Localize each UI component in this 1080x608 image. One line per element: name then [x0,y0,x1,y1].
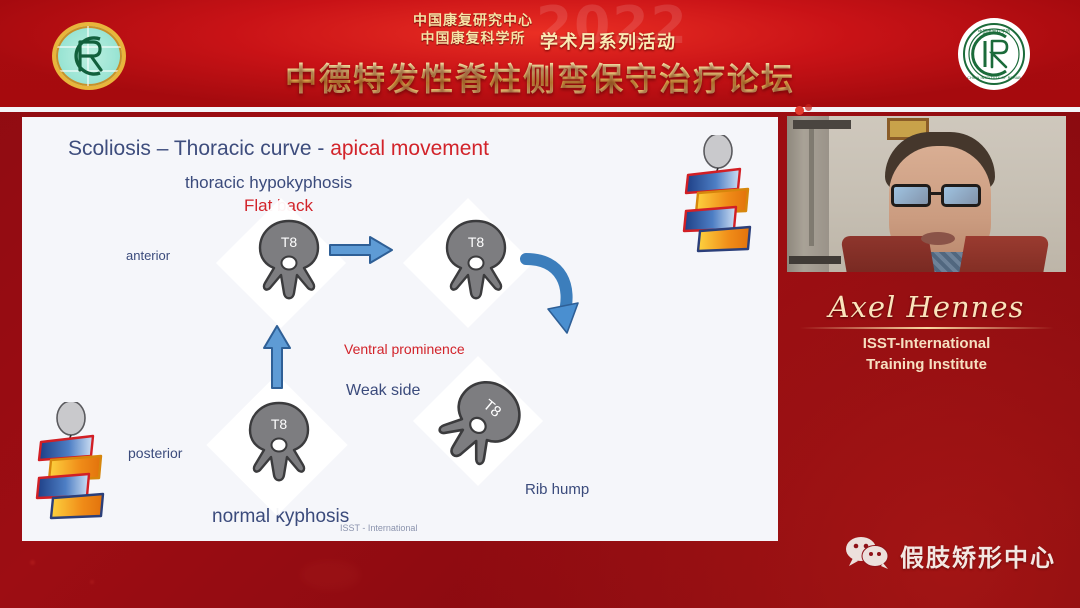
speaker-mouth [921,232,955,245]
video-background-panel [793,120,851,129]
video-background-panel [789,256,841,264]
slide-footer: ISST - International [340,523,417,533]
bokeh-dot [300,560,360,590]
svg-text:CHINA INSTITUTE OF REHAB: CHINA INSTITUTE OF REHAB [967,75,1021,80]
vertebra-label: T8 [281,234,298,250]
speaker-glasses-right [941,184,981,207]
recording-indicator-dot [795,106,804,115]
organizer-names: 中国康复研究中心 中国康复科学所 [398,12,548,47]
arrow-right-icon [328,235,394,270]
svg-text:中国康复科学所: 中国康复科学所 [978,28,1011,35]
speaker-organization-line-2: Training Institute [787,354,1066,375]
vertebra-top-right: T8 [437,217,515,312]
wechat-account-name: 假肢矫形中心 [900,538,1056,573]
speaker-name-divider [800,327,1054,329]
organizer-line-2: 中国康复科学所 [398,30,548,48]
video-background-door [787,116,829,272]
speaker-organization: ISST-International Training Institute [787,333,1066,375]
speaker-glasses-bridge [930,192,942,195]
event-main-title: 中德特发性脊柱侧弯保守治疗论坛 [0,54,1080,100]
event-subtitle: 学术月系列活动 [540,28,677,54]
video-background-door-edge [809,124,814,246]
wechat-watermark: 假肢矫形中心 [845,536,1056,575]
china-rehabilitation-research-center-logo [52,22,126,90]
speaker-glasses-left [891,184,931,207]
slide-title-accent: apical movement [330,137,489,160]
scoliotic-spine-icon-top [674,135,754,270]
presentation-slide: Scoliosis – Thoracic curve - apical move… [22,117,778,541]
speaker-portrait [849,132,1029,272]
speaker-jacket-right [956,236,1050,272]
broadcast-stage: 2022 中国康复研究中心 中国康复科学所 学术月系列活动 中德特发性脊柱侧弯保… [0,0,1080,608]
vertebra-label: T8 [468,234,485,250]
bokeh-dot [90,580,94,584]
label-anterior: anterior [126,248,170,263]
recording-indicator-dot [805,104,812,111]
slide-title: Scoliosis – Thoracic curve - apical move… [68,137,489,161]
speaker-organization-line-1: ISST-International [787,333,1066,354]
label-thoracic-hypokyphosis: thoracic hypokyphosis [185,173,352,193]
event-header-banner: 2022 中国康复研究中心 中国康复科学所 学术月系列活动 中德特发性脊柱侧弯保… [0,0,1080,112]
isr-institute-logo: 中国康复科学所 CHINA INSTITUTE OF REHAB [958,18,1030,90]
vertebra-bottom-left: T8 [240,399,318,496]
wechat-icon [845,536,891,575]
vertebra-rotated-rib-hump: T8 [411,359,543,493]
arrow-curved-rotation-icon [518,253,582,348]
label-rib-hump: Rib hump [525,481,589,498]
label-posterior: posterior [128,445,182,461]
slide-title-main: Scoliosis – Thoracic curve - [68,137,330,160]
vertebra-label: T8 [271,416,288,432]
label-ventral-prominence: Ventral prominence [344,341,465,357]
bokeh-dot [30,560,35,565]
speaker-video-feed[interactable] [787,116,1066,272]
vertebra-top-left: T8 [250,217,328,312]
label-weak-side: Weak side [346,382,420,400]
speaker-name: Axel Hennes [787,290,1066,324]
arrow-up-icon [262,324,292,395]
scoliotic-spine-icon-bottom [27,402,107,537]
organizer-line-1: 中国康复研究中心 [398,12,548,30]
